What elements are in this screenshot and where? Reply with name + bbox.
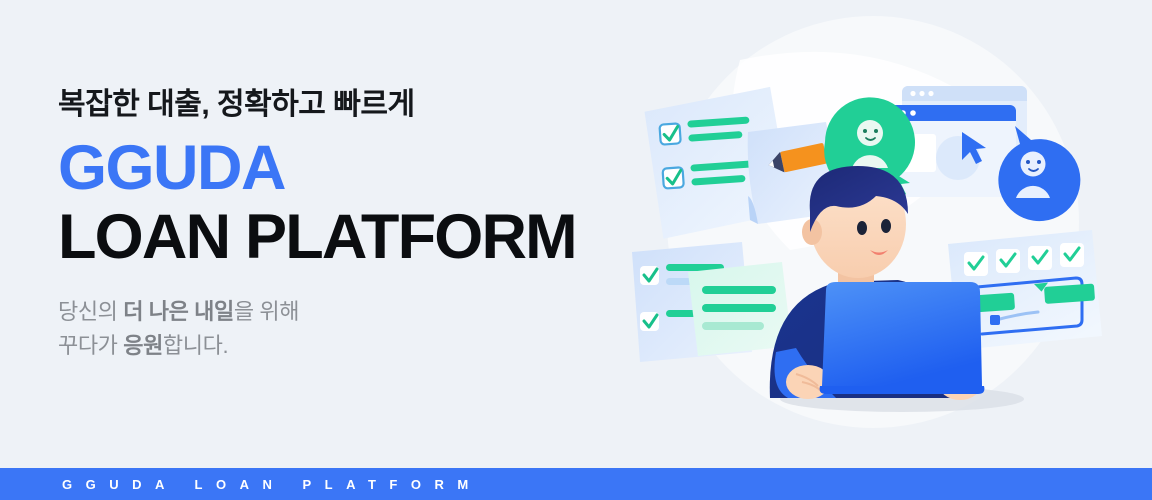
tagline-line1-emphasis: 더 나은 내일 [123, 299, 234, 324]
tagline-line2-emphasis: 응원 [123, 333, 163, 358]
tagline-line1-prefix: 당신의 [58, 299, 123, 324]
illustration-svg [630, 0, 1152, 468]
hero-eyebrow: 복잡한 대출, 정확하고 빠르게 [58, 88, 638, 123]
hero-illustration [630, 0, 1152, 468]
window-dot-icon [910, 91, 915, 96]
ticker-text: GGUDA LOAN PLATFORM [0, 477, 482, 492]
laptop-screen [822, 282, 982, 386]
hero-tagline-line-2: 꾸다가 응원합니다. [58, 329, 638, 363]
hero-copy: 복잡한 대출, 정확하고 빠르게 GGUDA LOAN PLATFORM 당신의… [58, 88, 638, 363]
hero-banner: 복잡한 대출, 정확하고 빠르게 GGUDA LOAN PLATFORM 당신의… [0, 0, 1152, 500]
bottom-ticker-banner: GGUDA LOAN PLATFORM [0, 468, 1152, 500]
laptop-base [820, 386, 985, 394]
hero-tagline-line-1: 당신의 더 나은 내일을 위해 [58, 295, 638, 329]
hero-product-name: LOAN PLATFORM [58, 206, 638, 269]
character-eye [857, 221, 867, 235]
character-eye [881, 219, 891, 233]
window-dot-icon [910, 110, 916, 116]
hero-tagline: 당신의 더 나은 내일을 위해 꾸다가 응원합니다. [58, 295, 638, 363]
laptop [820, 282, 985, 394]
tagline-line1-suffix: 을 위해 [234, 299, 299, 324]
window-dot-icon [919, 91, 924, 96]
window-dot-icon [928, 91, 933, 96]
avatar-head-icon [1021, 152, 1046, 177]
tagline-line2-suffix: 합니다. [163, 333, 228, 358]
tagline-line2-prefix: 꾸다가 [58, 333, 123, 358]
hero-brand-name: GGUDA [58, 137, 638, 200]
avatar-head-icon [857, 120, 883, 146]
